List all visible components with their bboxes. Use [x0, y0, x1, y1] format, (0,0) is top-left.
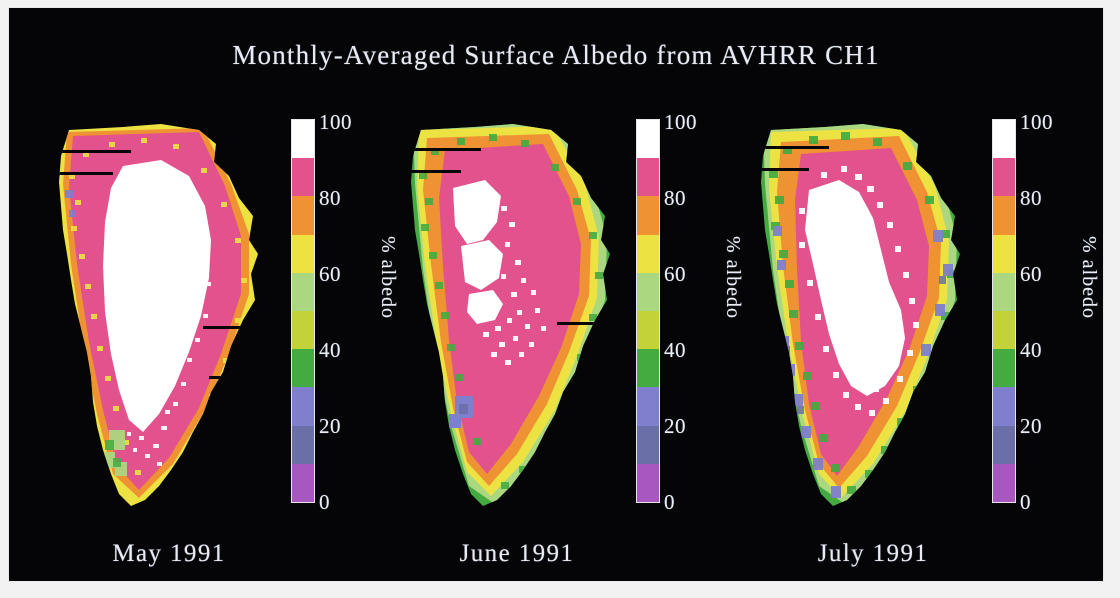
colorbar-band-20-30: [292, 387, 314, 425]
colorbar-band-0-10: [993, 464, 1015, 502]
colorbar-band-90-100: [292, 120, 314, 158]
colorbar-band-60-70: [993, 235, 1015, 273]
map-pixels-july: [755, 114, 970, 519]
colorbar-ticks-june: 100 80 60 40 20 0: [664, 108, 720, 513]
colorbar-july: [992, 119, 1016, 503]
colorbar-band-80-90: [993, 158, 1015, 196]
colorbar-tick-60: 60: [319, 264, 341, 285]
colorbar-band-30-40: [993, 349, 1015, 387]
figure-title: Monthly-Averaged Surface Albedo from AVH…: [9, 40, 1103, 71]
greenland-map-may: [53, 114, 268, 519]
colorbar-tick-100: 100: [319, 112, 352, 133]
colorbar-band-80-90: [292, 158, 314, 196]
colorbar-tick-80: 80: [319, 188, 341, 209]
colorbar-band-60-70: [292, 235, 314, 273]
greenland-map-july: [755, 114, 970, 519]
colorbar-band-20-30: [993, 387, 1015, 425]
panel-may: 100 80 60 40 20 0 % albedo May 1991: [47, 108, 377, 568]
colorbar-june: [636, 119, 660, 503]
colorbar-ticks-may: 100 80 60 40 20 0: [319, 108, 375, 513]
colorbar-band-10-20: [637, 426, 659, 464]
colorbar-tick-80: 80: [1020, 188, 1042, 209]
colorbar-tick-40: 40: [664, 340, 686, 361]
panel-june: 100 80 60 40 20 0 % albedo June 1991: [399, 108, 729, 568]
colorbar-band-40-50: [637, 311, 659, 349]
map-svg-july: [755, 114, 970, 519]
colorbar-band-90-100: [993, 120, 1015, 158]
colorbar-band-90-100: [637, 120, 659, 158]
colorbar-band-20-30: [637, 387, 659, 425]
colorbar-band-10-20: [993, 426, 1015, 464]
colorbar-tick-100: 100: [664, 112, 697, 133]
colorbar-tick-80: 80: [664, 188, 686, 209]
colorbar-tick-100: 100: [1020, 112, 1053, 133]
colorbar-band-50-60: [292, 273, 314, 311]
colorbar-may: [291, 119, 315, 503]
colorbar-band-80-90: [637, 158, 659, 196]
colorbar-label-july: % albedo: [1077, 236, 1100, 319]
colorbar-band-60-70: [637, 235, 659, 273]
colorbar-tick-40: 40: [1020, 340, 1042, 361]
colorbar-tick-40: 40: [319, 340, 341, 361]
colorbar-band-10-20: [292, 426, 314, 464]
colorbar-tick-20: 20: [1020, 416, 1042, 437]
colorbar-band-70-80: [993, 196, 1015, 234]
colorbar-tick-60: 60: [1020, 264, 1042, 285]
map-svg-may: [53, 114, 268, 519]
colorbar-tick-20: 20: [664, 416, 686, 437]
figure-canvas: Monthly-Averaged Surface Albedo from AVH…: [8, 7, 1104, 582]
colorbar-label-may: % albedo: [376, 236, 399, 319]
panel-label-june: June 1991: [387, 540, 647, 568]
colorbar-band-30-40: [292, 349, 314, 387]
colorbar-band-40-50: [993, 311, 1015, 349]
colorbar-band-40-50: [292, 311, 314, 349]
colorbar-band-50-60: [993, 273, 1015, 311]
colorbar-band-70-80: [637, 196, 659, 234]
colorbar-band-0-10: [637, 464, 659, 502]
colorbar-tick-0: 0: [319, 492, 330, 513]
colorbar-band-50-60: [637, 273, 659, 311]
colorbar-band-70-80: [292, 196, 314, 234]
colorbar-tick-60: 60: [664, 264, 686, 285]
colorbar-tick-20: 20: [319, 416, 341, 437]
colorbar-band-0-10: [292, 464, 314, 502]
greenland-map-june: [405, 114, 620, 519]
colorbar-label-june: % albedo: [721, 236, 744, 319]
colorbar-band-30-40: [637, 349, 659, 387]
map-pixels-june: [405, 114, 620, 519]
colorbar-ticks-july: 100 80 60 40 20 0: [1020, 108, 1076, 513]
colorbar-tick-0: 0: [1020, 492, 1031, 513]
panel-label-july: July 1991: [743, 540, 1003, 568]
panel-july: 100 80 60 40 20 0 % albedo July 1991: [749, 108, 1079, 568]
map-pixels-may: [53, 114, 268, 519]
colorbar-tick-0: 0: [664, 492, 675, 513]
panel-label-may: May 1991: [39, 540, 299, 568]
map-svg-june: [405, 114, 620, 519]
